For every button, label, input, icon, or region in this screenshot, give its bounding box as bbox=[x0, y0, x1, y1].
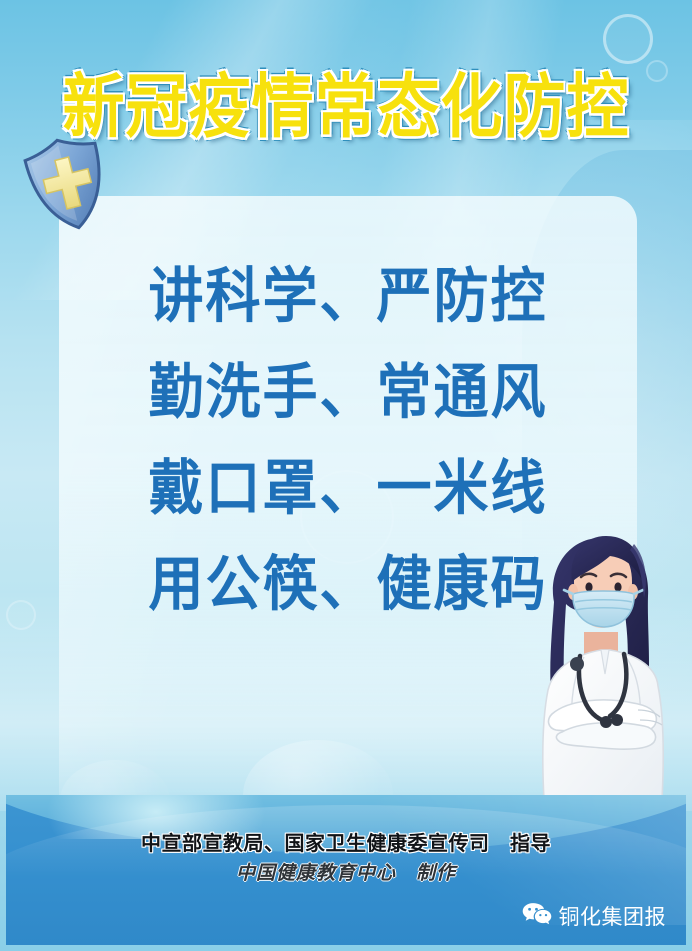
poster-canvas: 新冠疫情常态化防控 讲科学、严防控 勤洗手、常通风 戴口罩、一米线 用公筷、健康… bbox=[0, 0, 692, 951]
credit-line-guidance: 中宣部宣教局、国家卫生健康委宣传司 指导 bbox=[6, 827, 686, 856]
wechat-badge[interactable]: 铜化集团报 bbox=[522, 901, 667, 931]
slogan-line-2: 勤洗手、常通风 bbox=[59, 340, 637, 444]
credit-line-producer: 中国健康教育中心 制作 bbox=[6, 858, 686, 885]
bubble-decoration-icon bbox=[6, 600, 36, 630]
wechat-icon bbox=[522, 902, 552, 930]
poster-title: 新冠疫情常态化防控 bbox=[62, 72, 629, 141]
slogan-line-1: 讲科学、严防控 bbox=[59, 244, 637, 348]
bubble-decoration-icon bbox=[603, 14, 653, 64]
credits-band: 中宣部宣教局、国家卫生健康委宣传司 指导 中国健康教育中心 制作 铜化集团报 bbox=[6, 795, 686, 945]
female-doctor-illustration bbox=[518, 524, 692, 800]
poster-title-container: 新冠疫情常态化防控 bbox=[0, 76, 692, 138]
wechat-account-name: 铜化集团报 bbox=[559, 901, 667, 931]
